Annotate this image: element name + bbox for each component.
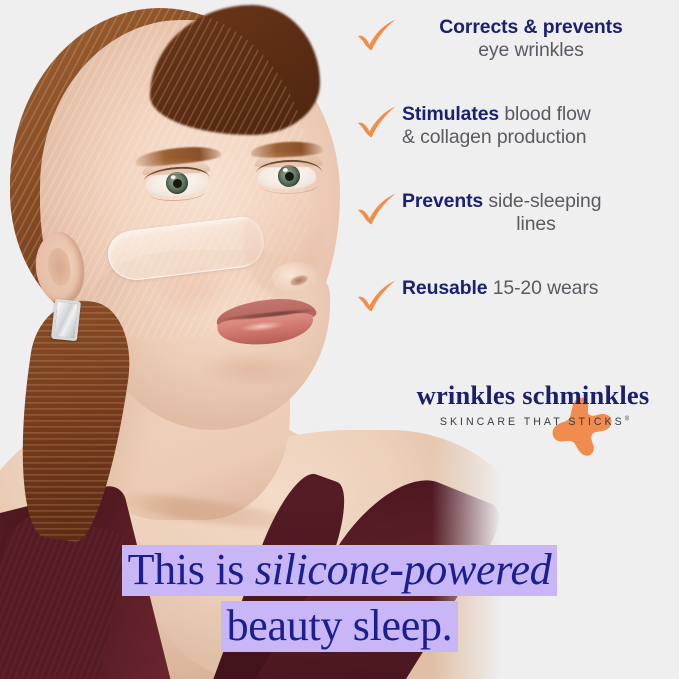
- headline-line-1-plain: This is: [128, 545, 255, 594]
- benefit-text-3: Prevents side-sleeping lines: [402, 190, 670, 235]
- benefit-3-bold: Prevents: [402, 190, 483, 212]
- benefit-item-1: Corrects & prevents eye wrinkles: [356, 16, 660, 61]
- ad-creative: Corrects & prevents eye wrinkles Stimula…: [0, 0, 679, 679]
- benefit-1-bold: Corrects & prevents: [439, 16, 622, 38]
- brand-tagline-text: SKINCARE THAT STICKS: [440, 416, 625, 428]
- headline-line-1: This is silicone-powered: [0, 545, 679, 596]
- benefit-item-2: Stimulates blood flow & collagen product…: [356, 103, 670, 148]
- benefit-text-4: Reusable 15-20 wears: [402, 277, 670, 300]
- registered-mark: ®: [625, 416, 629, 422]
- benefit-3-line2: lines: [402, 213, 670, 236]
- benefit-4-bold: Reusable: [402, 277, 487, 299]
- benefit-item-4: Reusable 15-20 wears: [356, 277, 670, 313]
- benefit-text-2: Stimulates blood flow & collagen product…: [402, 103, 670, 148]
- orange-check-icon: [356, 16, 402, 52]
- eye-right: [258, 162, 316, 189]
- benefit-1-line2: eye wrinkles: [402, 39, 660, 62]
- headline-line-2: beauty sleep.: [0, 601, 679, 652]
- brand-tagline: SKINCARE THAT STICKS®: [404, 416, 662, 428]
- benefit-text-1: Corrects & prevents eye wrinkles: [402, 16, 660, 61]
- headline-line-2-highlight: beauty sleep.: [221, 601, 459, 652]
- brand-logo[interactable]: wrinkles schminkles SKINCARE THAT STICKS…: [404, 380, 662, 428]
- benefit-2-bold: Stimulates: [402, 103, 499, 125]
- benefit-4-rest: 15-20 wears: [487, 277, 598, 299]
- headline: This is silicone-powered beauty sleep.: [0, 545, 679, 652]
- headline-line-1-italic: silicone-powered: [255, 545, 552, 594]
- orange-check-icon: [356, 190, 402, 226]
- benefit-2-rest: blood flow: [499, 103, 591, 125]
- eye-left: [145, 168, 208, 197]
- benefit-2-line2: & collagen production: [402, 126, 670, 149]
- benefit-3-rest: side-sleeping: [483, 190, 601, 212]
- headline-line-1-highlight: This is silicone-powered: [122, 545, 558, 596]
- orange-check-icon: [356, 103, 402, 139]
- brand-wordmark: wrinkles schminkles: [404, 380, 662, 411]
- benefit-item-3: Prevents side-sleeping lines: [356, 190, 670, 235]
- orange-check-icon: [356, 277, 402, 313]
- earring: [51, 299, 81, 341]
- chin-shadow: [196, 350, 306, 388]
